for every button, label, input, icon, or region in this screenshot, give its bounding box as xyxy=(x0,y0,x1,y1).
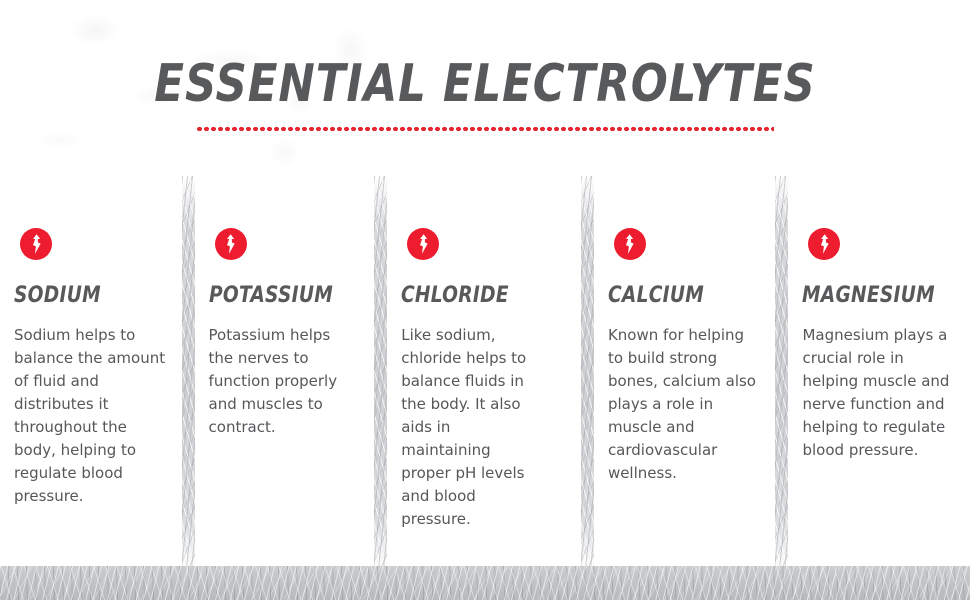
icon-wrap xyxy=(608,176,762,260)
icon-wrap xyxy=(209,176,361,260)
electrolyte-description: Potassium helps the nerves to function p… xyxy=(209,324,357,439)
electrolyte-card-magnesium: MAGNESIUM Magnesium plays a crucial role… xyxy=(788,176,970,568)
column-divider xyxy=(182,176,195,568)
page-title: ESSENTIAL ELECTROLYTES xyxy=(34,56,936,112)
lightning-bolt-icon xyxy=(20,228,52,260)
lightning-bolt-icon xyxy=(215,228,247,260)
electrolyte-description: Like sodium, chloride helps to balance f… xyxy=(401,324,539,531)
electrolyte-title: SODIUM xyxy=(14,284,158,308)
lightning-bolt-icon xyxy=(407,228,439,260)
electrolyte-title: POTASSIUM xyxy=(209,284,352,308)
electrolyte-description: Sodium helps to balance the amount of fl… xyxy=(14,324,166,508)
electrolyte-card-potassium: POTASSIUM Potassium helps the nerves to … xyxy=(195,176,375,568)
column-divider xyxy=(581,176,594,568)
red-dotted-rule xyxy=(196,126,774,132)
lightning-bolt-icon xyxy=(614,228,646,260)
electrolyte-card-sodium: SODIUM Sodium helps to balance the amoun… xyxy=(0,176,182,568)
column-divider xyxy=(775,176,788,568)
icon-wrap xyxy=(802,176,956,260)
icon-wrap xyxy=(14,176,168,260)
electrolyte-title: CALCIUM xyxy=(608,284,752,308)
column-divider xyxy=(374,176,387,568)
electrolyte-description: Magnesium plays a crucial role in helpin… xyxy=(802,324,956,462)
electrolyte-card-calcium: CALCIUM Known for helping to build stron… xyxy=(594,176,776,568)
icon-wrap xyxy=(401,176,567,260)
electrolyte-card-chloride: CHLORIDE Like sodium, chloride helps to … xyxy=(387,176,581,568)
electrolyte-title: MAGNESIUM xyxy=(802,284,946,308)
bottom-texture-band xyxy=(0,566,970,600)
electrolyte-columns: SODIUM Sodium helps to balance the amoun… xyxy=(0,176,970,568)
electrolyte-description: Known for helping to build strong bones,… xyxy=(608,324,762,485)
header: ESSENTIAL ELECTROLYTES xyxy=(0,0,970,132)
electrolyte-title: CHLORIDE xyxy=(401,284,557,308)
lightning-bolt-icon xyxy=(808,228,840,260)
